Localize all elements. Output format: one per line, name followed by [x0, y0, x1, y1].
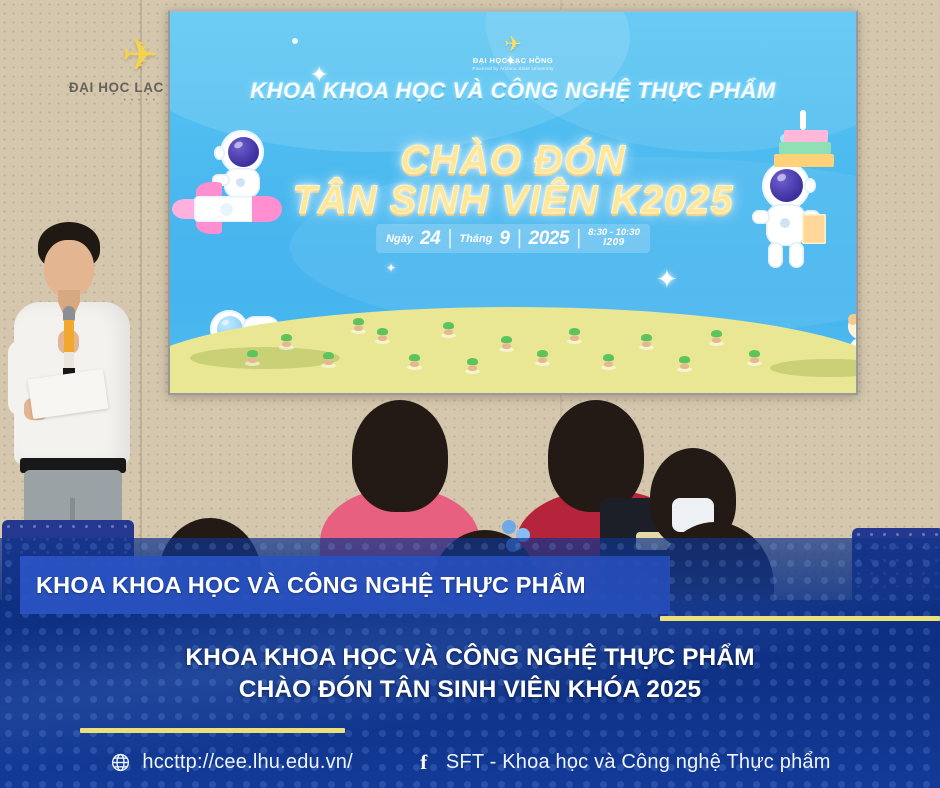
- accent-rule-top-right: [660, 616, 940, 621]
- slide-logo-university: ĐẠI HỌC LẠC HỒNG: [170, 56, 856, 65]
- audience-member: [548, 400, 644, 512]
- date-day-value: 24: [420, 228, 440, 250]
- website-url: hccttp://cee.lhu.edu.vn/: [142, 751, 352, 774]
- date-month-value: 9: [499, 228, 509, 250]
- date-room: I209: [603, 238, 624, 249]
- book-icon: [802, 214, 826, 244]
- audience-member: [352, 400, 448, 512]
- title-band-text: KHOA KHOA HỌC VÀ CÔNG NGHỆ THỰC PHẨM: [36, 572, 586, 599]
- globe-icon: [109, 752, 131, 774]
- contact-bar: hccttp://cee.lhu.edu.vn/ f SFT - Khoa họ…: [0, 751, 940, 774]
- book-stack-icon: [774, 120, 844, 174]
- contact-facebook[interactable]: f SFT - Khoa học và Công nghệ Thực phẩm: [413, 751, 831, 774]
- date-year-value: 2025: [529, 228, 569, 250]
- accent-rule-bottom-left: [80, 728, 345, 733]
- poster-canvas: ✈ ĐẠI HỌC LẠC HỒNG • • • • •: [0, 0, 940, 788]
- star-icon: ✦: [386, 262, 396, 274]
- astronaut-on-rocket: [194, 130, 324, 250]
- projection-screen: ✦ ✦ ✦ ✦ ✦ ✦ ✈ ĐẠI HỌC LẠC HỒNG Powered b…: [168, 10, 858, 395]
- date-separator: |: [447, 227, 452, 250]
- footer-panel: KHOA KHOA HỌC VÀ CÔNG NGHỆ THỰC PHẨM KHO…: [0, 538, 940, 788]
- slide-logo: ✈ ĐẠI HỌC LẠC HỒNG Powered by Arizona St…: [170, 34, 856, 71]
- title-band: KHOA KHOA HỌC VÀ CÔNG NGHỆ THỰC PHẨM: [20, 556, 670, 614]
- date-month-label: Tháng: [459, 233, 492, 245]
- date-separator: |: [576, 227, 581, 250]
- facebook-page-name: SFT - Khoa học và Công nghệ Thực phẩm: [446, 751, 831, 774]
- star-icon: ✦: [656, 266, 678, 292]
- facebook-icon: f: [413, 752, 435, 774]
- footer-headline-line1: KHOA KHOA HỌC VÀ CÔNG NGHỆ THỰC PHẨM: [0, 642, 940, 674]
- date-separator: |: [516, 227, 521, 250]
- slide-logo-tagline: Powered by Arizona State University: [170, 66, 856, 71]
- event-photo: ✈ ĐẠI HỌC LẠC HỒNG • • • • •: [0, 0, 940, 600]
- astronaut-standing: [744, 162, 830, 270]
- lhu-bird-logo-icon: ✈: [170, 34, 856, 55]
- slide-date-bar: Ngày 24 | Tháng 9 | 2025 | 8:30 - 10:30 …: [376, 224, 650, 253]
- rocket-icon: [194, 186, 306, 236]
- footer-headline: KHOA KHOA HỌC VÀ CÔNG NGHỆ THỰC PHẨM CHÀ…: [0, 642, 940, 706]
- slide-faculty-line: KHOA KHOA HỌC VÀ CÔNG NGHỆ THỰC PHẨM: [170, 78, 856, 104]
- contact-website[interactable]: hccttp://cee.lhu.edu.vn/: [109, 751, 352, 774]
- date-day-label: Ngày: [386, 233, 413, 245]
- footer-headline-line2: CHÀO ĐÓN TÂN SINH VIÊN KHÓA 2025: [0, 674, 940, 706]
